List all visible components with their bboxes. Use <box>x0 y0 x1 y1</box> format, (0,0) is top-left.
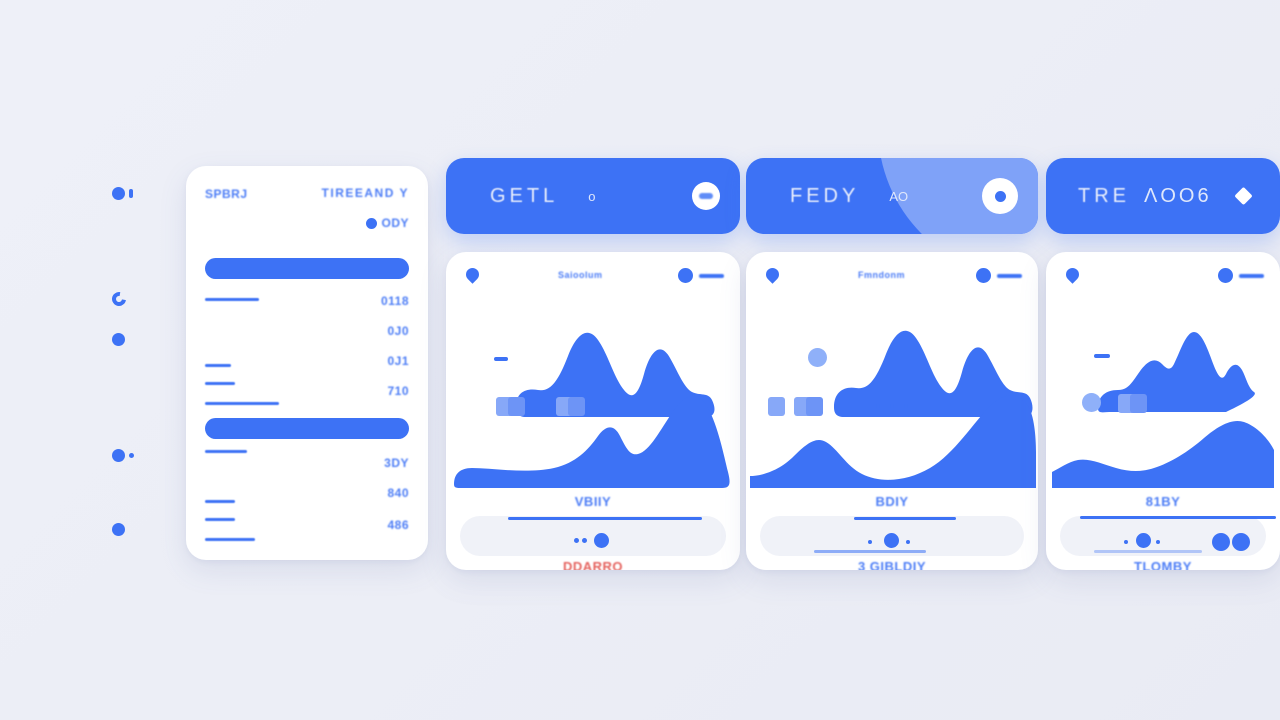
list-card-meta-label: ODY <box>381 216 409 230</box>
list-card: SPBRJ TIREEAND Y ODY 0118 0J0 0J1 710 3D… <box>186 166 428 560</box>
column-body-2: 81BY TLOMBY <box>1046 252 1280 570</box>
column-top-text: Fmndonm <box>858 270 905 280</box>
column-body-0: Saioolum VBIIY DDARRO <box>446 252 740 570</box>
column-subtitle: o <box>588 189 595 204</box>
group-underline <box>205 402 279 405</box>
small-dot-icon <box>129 453 134 458</box>
group-bar-1[interactable] <box>205 418 409 439</box>
location-pin-icon <box>463 265 481 283</box>
column-footer: TLOMBY <box>1046 559 1280 570</box>
slider-handle[interactable] <box>594 533 609 548</box>
column-header-2[interactable]: TRE ΛOO6 <box>1046 158 1280 234</box>
row-value: 3DY <box>384 456 409 470</box>
column-top-right <box>976 268 1022 283</box>
row-value: 486 <box>387 518 409 532</box>
column-title: GETL <box>490 185 558 208</box>
row-value: 0118 <box>381 294 409 308</box>
column-footer: DDARRO <box>446 559 740 570</box>
dot-icon <box>112 333 125 346</box>
slider-tick-icon <box>906 540 910 544</box>
column-caption: VBIIY <box>446 494 740 509</box>
diamond-icon[interactable] <box>1234 187 1252 205</box>
status-dot-icon <box>976 268 991 283</box>
column-header-0[interactable]: GETL o <box>446 158 740 234</box>
column-footer: 3 GIBLDIY <box>746 559 1038 570</box>
row-label-line <box>205 518 235 521</box>
row-label-line <box>205 364 231 367</box>
list-card-meta: ODY <box>366 216 409 230</box>
group-bar-0[interactable] <box>205 258 409 279</box>
row-value: 840 <box>387 486 409 500</box>
slider-tick-icon <box>574 538 579 543</box>
slider-progress <box>854 517 956 520</box>
column-card-0: GETL o Saioolum VBIIY <box>446 158 740 570</box>
spark-icon <box>129 189 133 198</box>
status-dot-icon <box>1218 268 1233 283</box>
sidebar-item-4[interactable] <box>112 518 172 540</box>
column-subtitle: ΛOO6 <box>1144 185 1212 208</box>
column-top-right <box>678 268 724 283</box>
slider-handle[interactable] <box>1136 533 1151 548</box>
slider-handle[interactable] <box>884 533 899 548</box>
dash-label-icon <box>699 274 724 278</box>
column-title: TRE <box>1078 185 1130 208</box>
status-dot-icon <box>366 218 377 229</box>
slider-tick-icon <box>1124 540 1128 544</box>
slider-progress <box>1080 516 1276 519</box>
list-card-title: SPBRJ <box>205 187 248 201</box>
column-body-1: Fmndonm BDIY 3 <box>746 252 1038 570</box>
toggle-dot-icon[interactable] <box>1232 533 1250 551</box>
location-pin-icon <box>763 265 781 283</box>
column-top-text: Saioolum <box>558 270 603 280</box>
slider-track[interactable] <box>460 516 726 556</box>
column-caption: 81BY <box>1046 494 1280 509</box>
sidebar-rail <box>112 170 172 550</box>
dot-icon <box>112 523 125 536</box>
row-value: 710 <box>387 384 409 398</box>
dash-label-icon <box>1239 274 1264 278</box>
sidebar-item-0[interactable] <box>112 182 172 204</box>
row-label-line <box>205 538 255 541</box>
slider-tick-icon <box>582 538 587 543</box>
column-card-1: FEDY AO Fmndonm BDIY <box>746 158 1038 570</box>
status-dot-icon <box>678 268 693 283</box>
dot-with-spark-icon <box>112 187 125 200</box>
sidebar-item-2[interactable] <box>112 328 172 350</box>
column-card-2: TRE ΛOO6 81BY <box>1046 158 1280 570</box>
row-label-line <box>205 450 247 453</box>
avatar-badge-icon[interactable] <box>692 182 720 210</box>
column-caption: BDIY <box>746 494 1038 509</box>
radio-badge-icon[interactable] <box>982 178 1018 214</box>
dot-with-dot-icon <box>112 449 125 462</box>
sidebar-item-3[interactable] <box>112 444 172 466</box>
chart-area-lower <box>1046 380 1280 505</box>
slider-progress <box>508 517 702 520</box>
column-subtitle: AO <box>889 189 908 204</box>
list-card-subtitle: TIREEAND Y <box>322 186 409 200</box>
column-header-1[interactable]: FEDY AO <box>746 158 1038 234</box>
slider-tick-icon <box>868 540 872 544</box>
secondary-rule <box>1094 550 1202 553</box>
crescent-icon <box>109 289 128 308</box>
column-title: FEDY <box>790 185 859 208</box>
dash-label-icon <box>997 274 1022 278</box>
chart-area-lower <box>446 380 740 505</box>
row-label-line <box>205 500 235 503</box>
location-pin-icon <box>1063 265 1081 283</box>
row-label-line <box>205 382 235 385</box>
app-root: SPBRJ TIREEAND Y ODY 0118 0J0 0J1 710 3D… <box>0 0 1280 720</box>
row-label-line <box>205 298 259 301</box>
chart-area-lower <box>746 380 1038 505</box>
sidebar-item-1[interactable] <box>112 288 172 310</box>
row-value: 0J1 <box>387 354 409 368</box>
row-value: 0J0 <box>387 324 409 338</box>
column-top-right <box>1218 268 1264 283</box>
secondary-rule <box>814 550 926 553</box>
slider-tick-icon <box>1156 540 1160 544</box>
toggle-dot-icon[interactable] <box>1212 533 1230 551</box>
